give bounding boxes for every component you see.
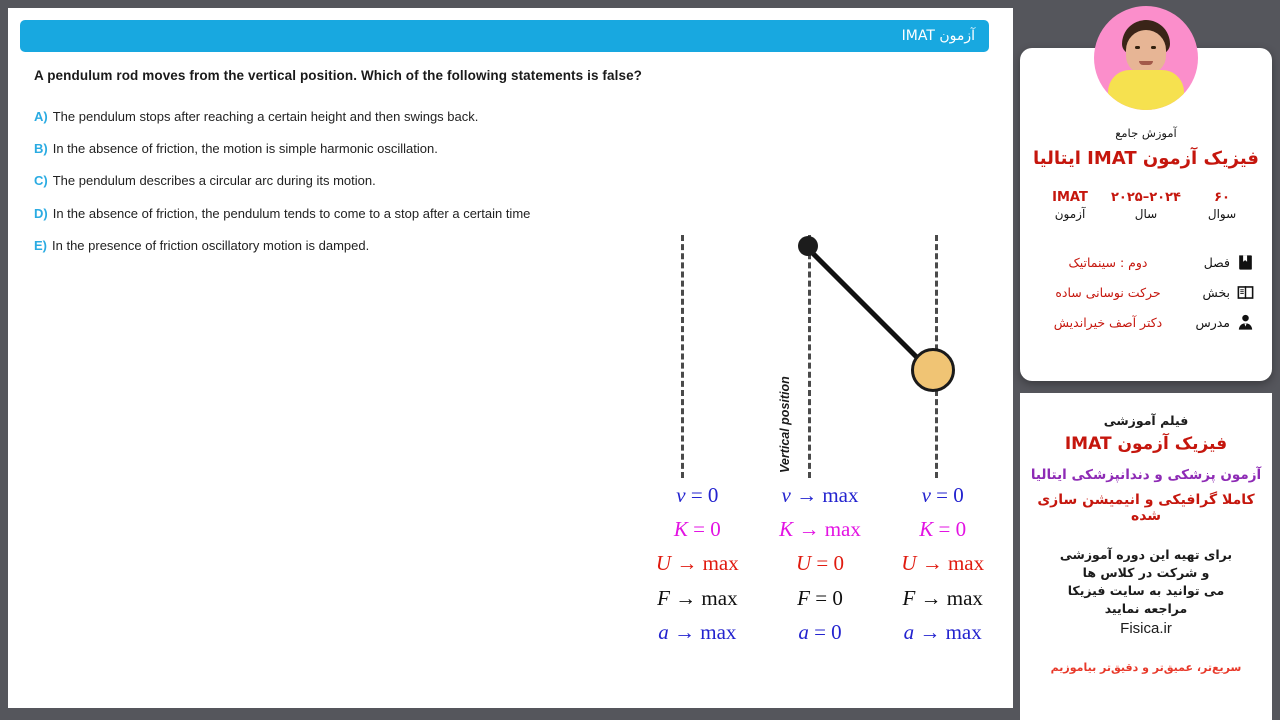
meta-item-questions: ۶۰ سوال [1184,189,1260,223]
pendulum-bob [911,348,955,392]
detail-row-instructor: مدرس دکتر آصف خیراندیش [1032,307,1260,337]
course-heading: فیزیک آزمون IMAT ایتالیا [1020,148,1272,169]
option-text: In the presence of friction oscillatory … [52,238,369,253]
formula-row-u: U → max U = 0 U → max [636,546,1004,580]
detail-value: دوم : سینماتیک [1032,255,1184,270]
option-letter: C) [34,173,48,188]
formula-row-a: a → max a = 0 a → max [636,615,1004,649]
option-text: The pendulum describes a circular arc du… [53,173,376,188]
meta-label: سوال [1184,206,1260,223]
open-book-icon [1230,283,1260,302]
meta-label: سال [1108,206,1184,223]
option-text: In the absence of friction, the motion i… [53,141,438,156]
detail-value: حرکت نوسانی ساده [1032,285,1184,300]
person-icon [1230,313,1260,332]
formula-cell: F → max [636,581,759,615]
meta-value: ۲۰۲۴–۲۰۲۵ [1108,189,1184,206]
formula-cell: v = 0 [636,478,759,512]
question-text: A pendulum rod moves from the vertical p… [34,68,734,83]
option-b[interactable]: B) In the absence of friction, the motio… [34,141,754,156]
dashed-line-center [808,235,811,478]
option-c[interactable]: C) The pendulum describes a circular arc… [34,173,754,188]
pendulum-diagram: Vertical position v = 0 v → max v = 0 K … [628,223,1008,673]
detail-value: دکتر آصف خیراندیش [1032,315,1184,330]
option-letter: B) [34,141,48,156]
meta-item-exam: IMAT آزمون [1032,189,1108,223]
promo-footer-slogan: سریع‌تر، عمیق‌تر و دقیق‌تر بیاموزیم [1020,661,1272,674]
option-letter: A) [34,109,48,124]
detail-label: مدرس [1184,315,1230,330]
avatar-eye-left [1135,46,1140,49]
book-icon [1230,253,1260,272]
slide-title-text: آزمون IMAT [902,28,975,44]
meta-item-year: ۲۰۲۴–۲۰۲۵ سال [1108,189,1184,223]
promo-line-4: کاملا گرافیکی و انیمیشن سازی شده [1020,492,1272,524]
formula-row-v: v = 0 v → max v = 0 [636,478,1004,512]
promo-line-1: فیلم آموزشی [1020,413,1272,428]
detail-row-chapter: فصل دوم : سینماتیک [1032,247,1260,277]
formula-cell: K = 0 [881,512,1004,546]
avatar-shirt [1108,70,1184,110]
avatar-face [1126,30,1166,74]
formula-cell: K = 0 [636,512,759,546]
pendulum-pivot [798,236,818,256]
instructor-avatar [1094,6,1198,110]
info-sidebar: آموزش جامع فیزیک آزمون IMAT ایتالیا ۶۰ س… [1020,0,1272,720]
course-subtitle: آموزش جامع [1020,126,1272,140]
option-letter: E) [34,238,47,253]
meta-value: ۶۰ [1184,189,1260,206]
option-text: The pendulum stops after reaching a cert… [53,109,479,124]
vertical-position-label: Vertical position [778,376,792,473]
formula-cell: K → max [759,512,882,546]
promo-instructions: برای تهیه این دوره آموزشی و شرکت در کلاس… [1020,546,1272,618]
detail-row-section: بخش حرکت نوسانی ساده [1032,277,1260,307]
promo-website[interactable]: Fisica.ir [1020,620,1272,637]
formula-row-k: K = 0 K → max K = 0 [636,512,1004,546]
course-meta-row: ۶۰ سوال ۲۰۲۴–۲۰۲۵ سال IMAT آزمون [1020,189,1272,223]
formula-cell: v = 0 [881,478,1004,512]
promo-line-3: آزمون پزشکی و دندانپزشکی ایتالیا [1020,467,1272,483]
formula-cell: a = 0 [759,615,882,649]
formula-cell: a → max [881,615,1004,649]
avatar-eye-right [1151,46,1156,49]
slide-canvas: آزمون IMAT A pendulum rod moves from the… [8,8,1013,708]
detail-label: بخش [1184,285,1230,300]
energy-formula-grid: v = 0 v → max v = 0 K = 0 K → max K = 0 … [636,478,1004,649]
promo-line-2: فیزیک آزمون IMAT [1020,434,1272,454]
formula-cell: U = 0 [759,546,882,580]
option-letter: D) [34,206,48,221]
formula-row-f: F → max F = 0 F → max [636,581,1004,615]
formula-cell: F = 0 [759,581,882,615]
promo-panel: فیلم آموزشی فیزیک آزمون IMAT آزمون پزشکی… [1020,393,1272,720]
option-text: In the absence of friction, the pendulum… [53,206,531,221]
detail-label: فصل [1184,255,1230,270]
formula-cell: U → max [636,546,759,580]
meta-value: IMAT [1032,189,1108,206]
option-d[interactable]: D) In the absence of friction, the pendu… [34,206,754,221]
formula-cell: a → max [636,615,759,649]
dashed-line-left [681,235,684,478]
meta-label: آزمون [1032,206,1108,223]
formula-cell: v → max [759,478,882,512]
formula-cell: F → max [881,581,1004,615]
slide-title-bar: آزمون IMAT [20,20,989,52]
option-a[interactable]: A) The pendulum stops after reaching a c… [34,109,754,124]
course-detail-rows: فصل دوم : سینماتیک بخش حرکت نوس [1020,247,1272,337]
avatar-mouth [1139,61,1153,65]
formula-cell: U → max [881,546,1004,580]
